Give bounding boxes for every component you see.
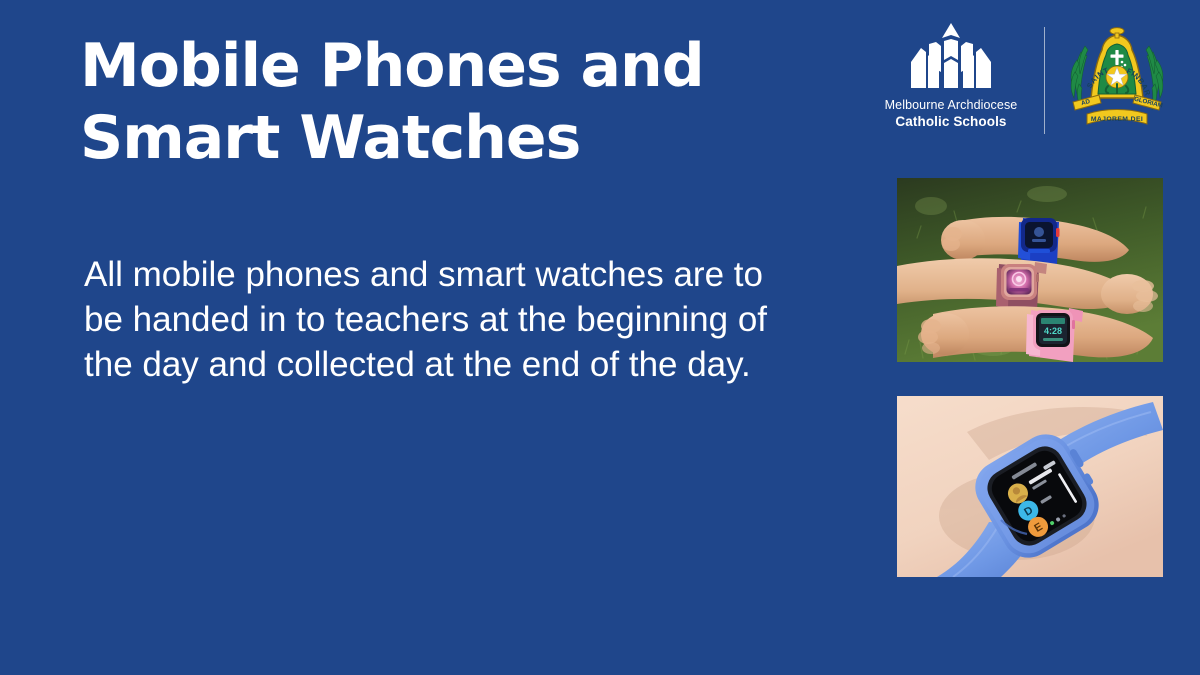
crest-motto-banner: MAJOREM DEI xyxy=(1091,116,1143,123)
body-paragraph: All mobile phones and smart watches are … xyxy=(84,252,784,387)
macs-logo: Melbourne Archdiocese Catholic Schools xyxy=(872,22,1030,140)
macs-wordmark-line2: Catholic Schools xyxy=(885,114,1018,131)
macs-wordmark: Melbourne Archdiocese Catholic Schools xyxy=(885,98,1018,131)
logo-lockup: Melbourne Archdiocese Catholic Schools xyxy=(872,22,1172,142)
slide-root: Mobile Phones and Smart Watches All mobi… xyxy=(0,0,1200,675)
photo-blue-smartwatch: D E xyxy=(897,396,1163,577)
macs-wordmark-line1: Melbourne Archdiocese xyxy=(885,98,1018,114)
page-title: Mobile Phones and Smart Watches xyxy=(80,30,840,174)
logo-divider xyxy=(1044,27,1045,134)
svg-text:4:28: 4:28 xyxy=(1044,326,1062,336)
photo-watches-on-wrists: 4:28 xyxy=(897,178,1163,362)
saint-finbars-school-crest-icon: SAINT FINBARS AD GLORIAM MAJOREM DEI xyxy=(1065,22,1169,140)
macs-arrow-monogram-icon xyxy=(903,22,999,92)
